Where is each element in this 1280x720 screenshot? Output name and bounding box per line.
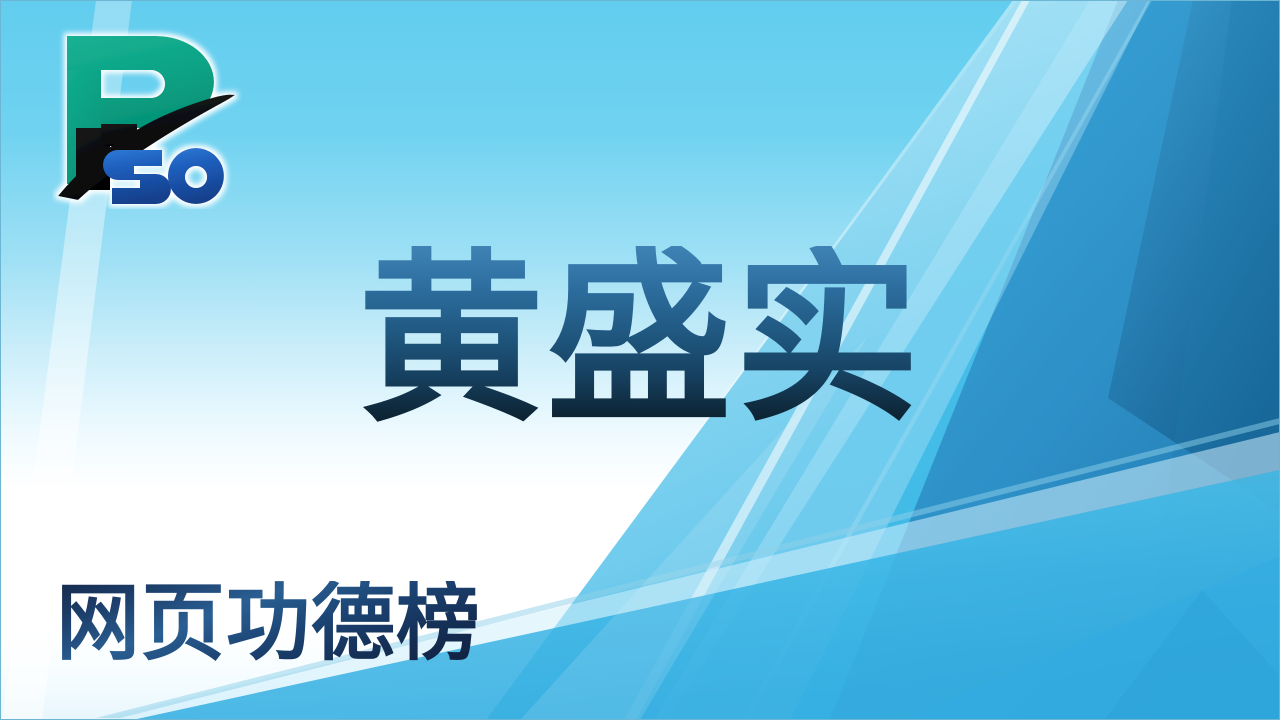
presentation-slide: 黄盛实 网页功德榜 — [0, 0, 1280, 720]
pso-logo — [52, 24, 242, 209]
slide-main-title: 黄盛实 — [0, 246, 1280, 432]
slide-subtitle: 网页功德榜 — [56, 581, 481, 665]
logo-text-so — [103, 148, 224, 204]
